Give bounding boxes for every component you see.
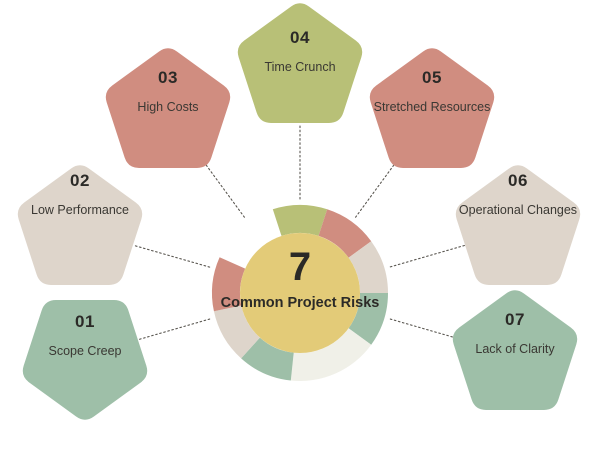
pentagon-shape-01: [23, 300, 147, 420]
connector-line-05: [356, 158, 399, 217]
ring-segment-04: [273, 205, 327, 236]
infographic-canvas: 7 Common Project Risks 01Scope Creep02Lo…: [0, 0, 600, 460]
connector-line-03: [201, 158, 244, 217]
connector-line-06: [390, 245, 464, 266]
pentagon-shape-07: [453, 290, 577, 410]
pentagon-shape-02: [18, 165, 142, 285]
connector-line-07: [390, 319, 461, 340]
pentagon-node-01[interactable]: [23, 300, 147, 420]
infographic-svg: [0, 0, 600, 460]
connector-line-01: [139, 319, 210, 340]
pentagon-node-03[interactable]: [106, 48, 230, 168]
connector-line-02: [134, 245, 210, 267]
pentagon-shape-04: [238, 3, 362, 123]
pentagon-node-02[interactable]: [18, 165, 142, 285]
ring-segment-03: [212, 257, 245, 311]
center-hub-circle: [240, 233, 360, 353]
pentagon-node-05[interactable]: [370, 48, 494, 168]
pentagon-shape-05: [370, 48, 494, 168]
pentagon-node-04[interactable]: [238, 3, 362, 123]
pentagon-shape-03: [106, 48, 230, 168]
pentagon-node-07[interactable]: [453, 290, 577, 410]
pentagon-shape-06: [456, 165, 580, 285]
pentagon-node-06[interactable]: [456, 165, 580, 285]
